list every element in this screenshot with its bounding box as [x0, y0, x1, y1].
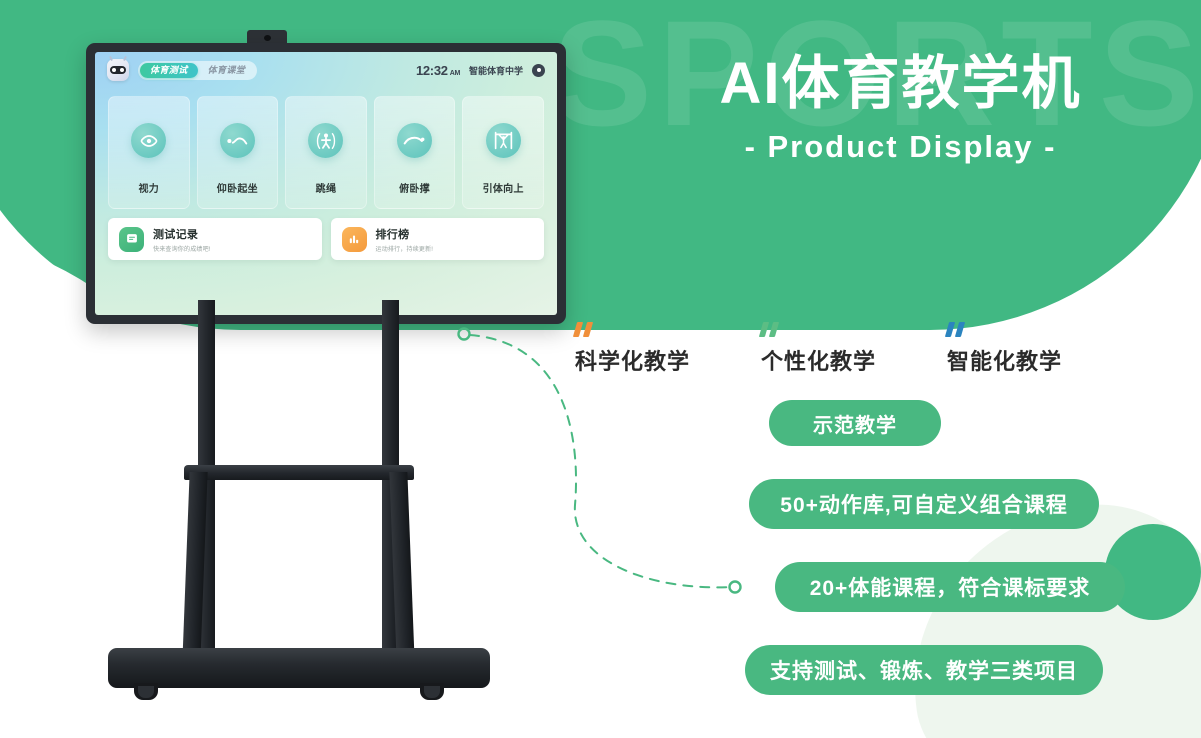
quote-mark-icon — [947, 322, 1133, 338]
feature-heading-row: 科学化教学 个性化教学 智能化教学 — [575, 322, 1135, 376]
tab-sports-test[interactable]: 体育测试 — [140, 63, 198, 78]
tile-label: 视力 — [138, 180, 159, 195]
screen-topbar: 体育测试 体育课堂 12:32AM 智能体育中学 — [95, 52, 557, 88]
feature-scientific: 科学化教学 — [575, 322, 761, 376]
feature-pill-list: 示范教学 50+动作库,可自定义组合课程 20+体能课程，符合课标要求 支持测试… — [575, 400, 1135, 695]
card-subtitle: 运动排行，持续更新! — [376, 244, 434, 253]
card-subtitle: 快来查询你的成绩吧! — [153, 244, 211, 253]
jump-rope-icon — [308, 123, 343, 158]
card-title: 测试记录 — [153, 226, 211, 242]
tab-sports-class[interactable]: 体育课堂 — [198, 63, 256, 78]
screen-tabs[interactable]: 体育测试 体育课堂 — [138, 61, 257, 80]
quote-mark-icon — [575, 322, 761, 338]
school-name: 智能体育中学 — [469, 64, 523, 77]
clock-display: 12:32AM — [416, 63, 460, 78]
poster-stage: SPORTS AI体育教学机 - Product Display - 体育测试 … — [0, 0, 1201, 738]
tv-bezel: 体育测试 体育课堂 12:32AM 智能体育中学 — [86, 43, 566, 324]
tile-vision[interactable]: 视力 — [108, 96, 190, 209]
record-document-icon — [119, 227, 144, 252]
stand-base — [108, 648, 490, 688]
pill-three-categories[interactable]: 支持测试、锻炼、教学三类项目 — [745, 645, 1103, 695]
card-title: 排行榜 — [376, 226, 434, 242]
tile-label: 仰卧起坐 — [217, 180, 258, 195]
quote-mark-icon — [761, 322, 947, 338]
screen-status-area: 12:32AM 智能体育中学 — [416, 63, 545, 78]
tile-jumprope[interactable]: 跳绳 — [285, 96, 367, 209]
tile-label: 引体向上 — [483, 180, 524, 195]
feature-title: 科学化教学 — [575, 344, 761, 376]
feature-title: 智能化教学 — [947, 344, 1133, 376]
stand-shelf — [184, 465, 414, 480]
tv-screen: 体育测试 体育课堂 12:32AM 智能体育中学 — [95, 52, 557, 315]
app-tile-grid: 视力 仰卧起坐 跳绳 — [108, 96, 544, 209]
push-up-icon — [397, 123, 432, 158]
pill-action-library[interactable]: 50+动作库,可自定义组合课程 — [749, 479, 1099, 529]
card-test-records[interactable]: 测试记录 快来查询你的成绩吧! — [108, 218, 322, 260]
tile-pushup[interactable]: 俯卧撑 — [374, 96, 456, 209]
bar-chart-icon — [342, 227, 367, 252]
hero-block: AI体育教学机 - Product Display - — [600, 52, 1201, 165]
feature-title: 个性化教学 — [761, 344, 947, 376]
gear-icon[interactable] — [532, 64, 545, 77]
robot-avatar-icon — [107, 59, 129, 81]
page-title: AI体育教学机 — [600, 52, 1201, 117]
feature-column: 科学化教学 个性化教学 智能化教学 示范教学 50+动作库,可自定义组合课程 2… — [575, 322, 1135, 695]
feature-personalized: 个性化教学 — [761, 322, 947, 376]
shortcut-card-row: 测试记录 快来查询你的成绩吧! 排行榜 运动排行，持续更新! — [108, 218, 544, 260]
camera-module-icon — [247, 30, 287, 44]
clock-time: 12:32 — [416, 63, 448, 78]
pull-up-icon — [486, 123, 521, 158]
tile-label: 俯卧撑 — [399, 180, 430, 195]
tile-situp[interactable]: 仰卧起坐 — [197, 96, 279, 209]
connector-endpoint-left — [459, 329, 470, 340]
pill-demo-teaching[interactable]: 示范教学 — [769, 400, 941, 446]
caster-wheel-right — [420, 683, 444, 700]
tile-pullup[interactable]: 引体向上 — [462, 96, 544, 209]
caster-wheel-left — [134, 683, 158, 700]
pill-fitness-courses[interactable]: 20+体能课程，符合课标要求 — [775, 562, 1125, 612]
card-leaderboard[interactable]: 排行榜 运动排行，持续更新! — [331, 218, 545, 260]
page-subtitle: - Product Display - — [600, 129, 1201, 165]
sit-up-icon — [220, 123, 255, 158]
clock-meridiem: AM — [450, 70, 460, 77]
eye-icon — [131, 123, 166, 158]
tile-label: 跳绳 — [316, 180, 337, 195]
feature-intelligent: 智能化教学 — [947, 322, 1133, 376]
